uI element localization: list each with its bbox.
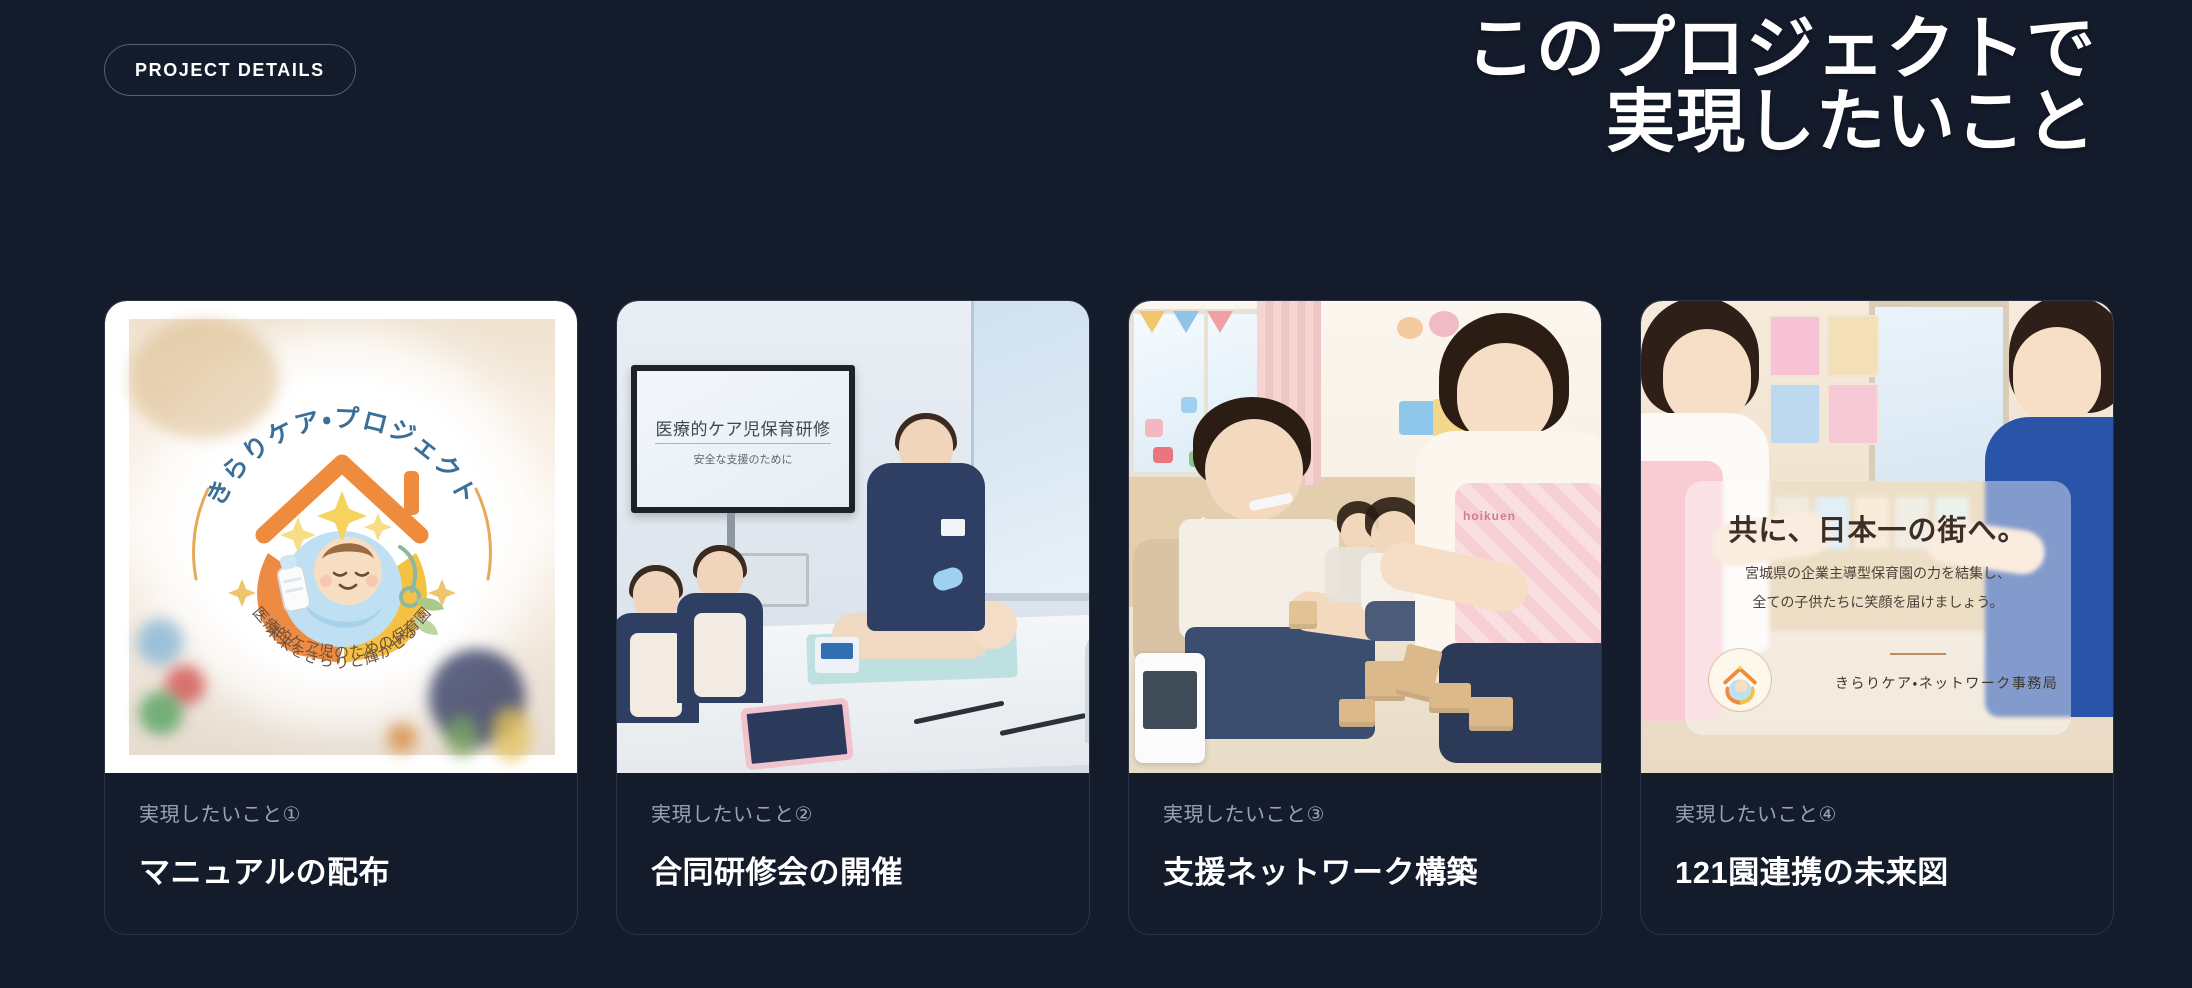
page-title: このプロジェクトで 実現したいこと bbox=[1466, 12, 2096, 158]
goal-card-4-eyebrow: 実現したいこと④ bbox=[1675, 798, 2093, 827]
vital-monitor-device bbox=[1135, 653, 1205, 763]
apron-logo-text: hoikuen bbox=[1463, 509, 1516, 523]
goal-card-2-caption: 実現したいこと② 合同研修会の開催 bbox=[651, 798, 1069, 892]
project-details-badge[interactable]: PROJECT DETAILS bbox=[104, 44, 356, 96]
project-goal-card-grid: きらりケア・プロジェクト 医療的ケア児のための保育園 未来をきらりと輝かせる bbox=[0, 300, 2192, 940]
goal-card-1-eyebrow: 実現したいこと① bbox=[139, 798, 557, 827]
goal-card-2-media: 医療的ケア児保育研修 安全な支援のために bbox=[617, 301, 1090, 773]
monitor-device bbox=[815, 637, 859, 673]
page-header: PROJECT DETAILS このプロジェクトで 実現したいこと bbox=[0, 0, 2192, 250]
goal-card-1[interactable]: きらりケア・プロジェクト 医療的ケア児のための保育園 未来をきらりと輝かせる bbox=[104, 300, 578, 935]
overlay-body-line-2: 全ての子供たちに笑顔を届けましょう。 bbox=[1685, 588, 2071, 617]
overlay-organization: きらりケア・ネットワーク事務局 bbox=[1835, 673, 2061, 693]
window-icon bbox=[971, 301, 1090, 601]
goal-card-2-eyebrow: 実現したいこと② bbox=[651, 798, 1069, 827]
overlay-heading: 共に、日本一の街へ。 bbox=[1685, 507, 2071, 549]
presentation-screen: 医療的ケア児保育研修 安全な支援のために bbox=[631, 365, 855, 513]
tablet-device bbox=[740, 698, 854, 771]
goal-card-4-media: 共に、日本一の街へ。 宮城県の企業主導型保育園の力を結集し、 全ての子供たちに笑… bbox=[1641, 301, 2114, 773]
instructor-nurse bbox=[867, 419, 985, 629]
presentation-screen-subtitle: 安全な支援のために bbox=[637, 451, 849, 467]
goal-card-3-eyebrow: 実現したいこと③ bbox=[1163, 798, 1581, 827]
training-room-scene: 医療的ケア児保育研修 安全な支援のために bbox=[617, 301, 1090, 773]
overlay-body-line-1: 宮城県の企業主導型保育園の力を結集し、 bbox=[1685, 559, 2071, 588]
goal-card-4[interactable]: 共に、日本一の街へ。 宮城県の企業主導型保育園の力を結集し、 全ての子供たちに笑… bbox=[1640, 300, 2114, 935]
page-title-line-2: 実現したいこと bbox=[1466, 85, 2096, 158]
presentation-screen-title: 医療的ケア児保育研修 bbox=[637, 415, 849, 440]
mission-overlay-panel: 共に、日本一の街へ。 宮城県の企業主導型保育園の力を結集し、 全ての子供たちに笑… bbox=[1685, 481, 2071, 735]
page-title-line-1: このプロジェクトで bbox=[1466, 10, 2096, 87]
goal-card-3-title: 支援ネットワーク構築 bbox=[1163, 847, 1581, 892]
goal-card-1-media: きらりケア・プロジェクト 医療的ケア児のための保育園 未来をきらりと輝かせる bbox=[105, 301, 578, 773]
goal-card-3[interactable]: hoikuen 実現したいこと③ 支援ネットワーク構築 bbox=[1128, 300, 1602, 935]
goal-card-4-caption: 実現したいこと④ 121園連携の未来図 bbox=[1675, 798, 2093, 892]
nursery-room-scene: hoikuen bbox=[1129, 301, 1602, 773]
goal-card-3-caption: 実現したいこと③ 支援ネットワーク構築 bbox=[1163, 798, 1581, 892]
goal-card-2[interactable]: 医療的ケア児保育研修 安全な支援のために bbox=[616, 300, 1090, 935]
overlay-divider bbox=[1890, 653, 1946, 655]
goal-card-3-media: hoikuen bbox=[1129, 301, 1602, 773]
goal-card-1-title: マニュアルの配布 bbox=[139, 847, 557, 892]
kirari-care-project-logo: きらりケア・プロジェクト 医療的ケア児のための保育園 未来をきらりと輝かせる bbox=[172, 367, 512, 707]
kirari-care-project-logo-small bbox=[1709, 649, 1771, 711]
goal-card-4-title: 121園連携の未来図 bbox=[1675, 847, 2093, 892]
logo-photo-backdrop: きらりケア・プロジェクト 医療的ケア児のための保育園 未来をきらりと輝かせる bbox=[129, 319, 555, 755]
overlay-body: 宮城県の企業主導型保育園の力を結集し、 全ての子供たちに笑顔を届けましょう。 bbox=[1685, 559, 2071, 618]
goal-card-1-caption: 実現したいこと① マニュアルの配布 bbox=[139, 798, 557, 892]
staff-conversation-scene: 共に、日本一の街へ。 宮城県の企業主導型保育園の力を結集し、 全ての子供たちに笑… bbox=[1641, 301, 2114, 773]
goal-card-2-title: 合同研修会の開催 bbox=[651, 847, 1069, 892]
